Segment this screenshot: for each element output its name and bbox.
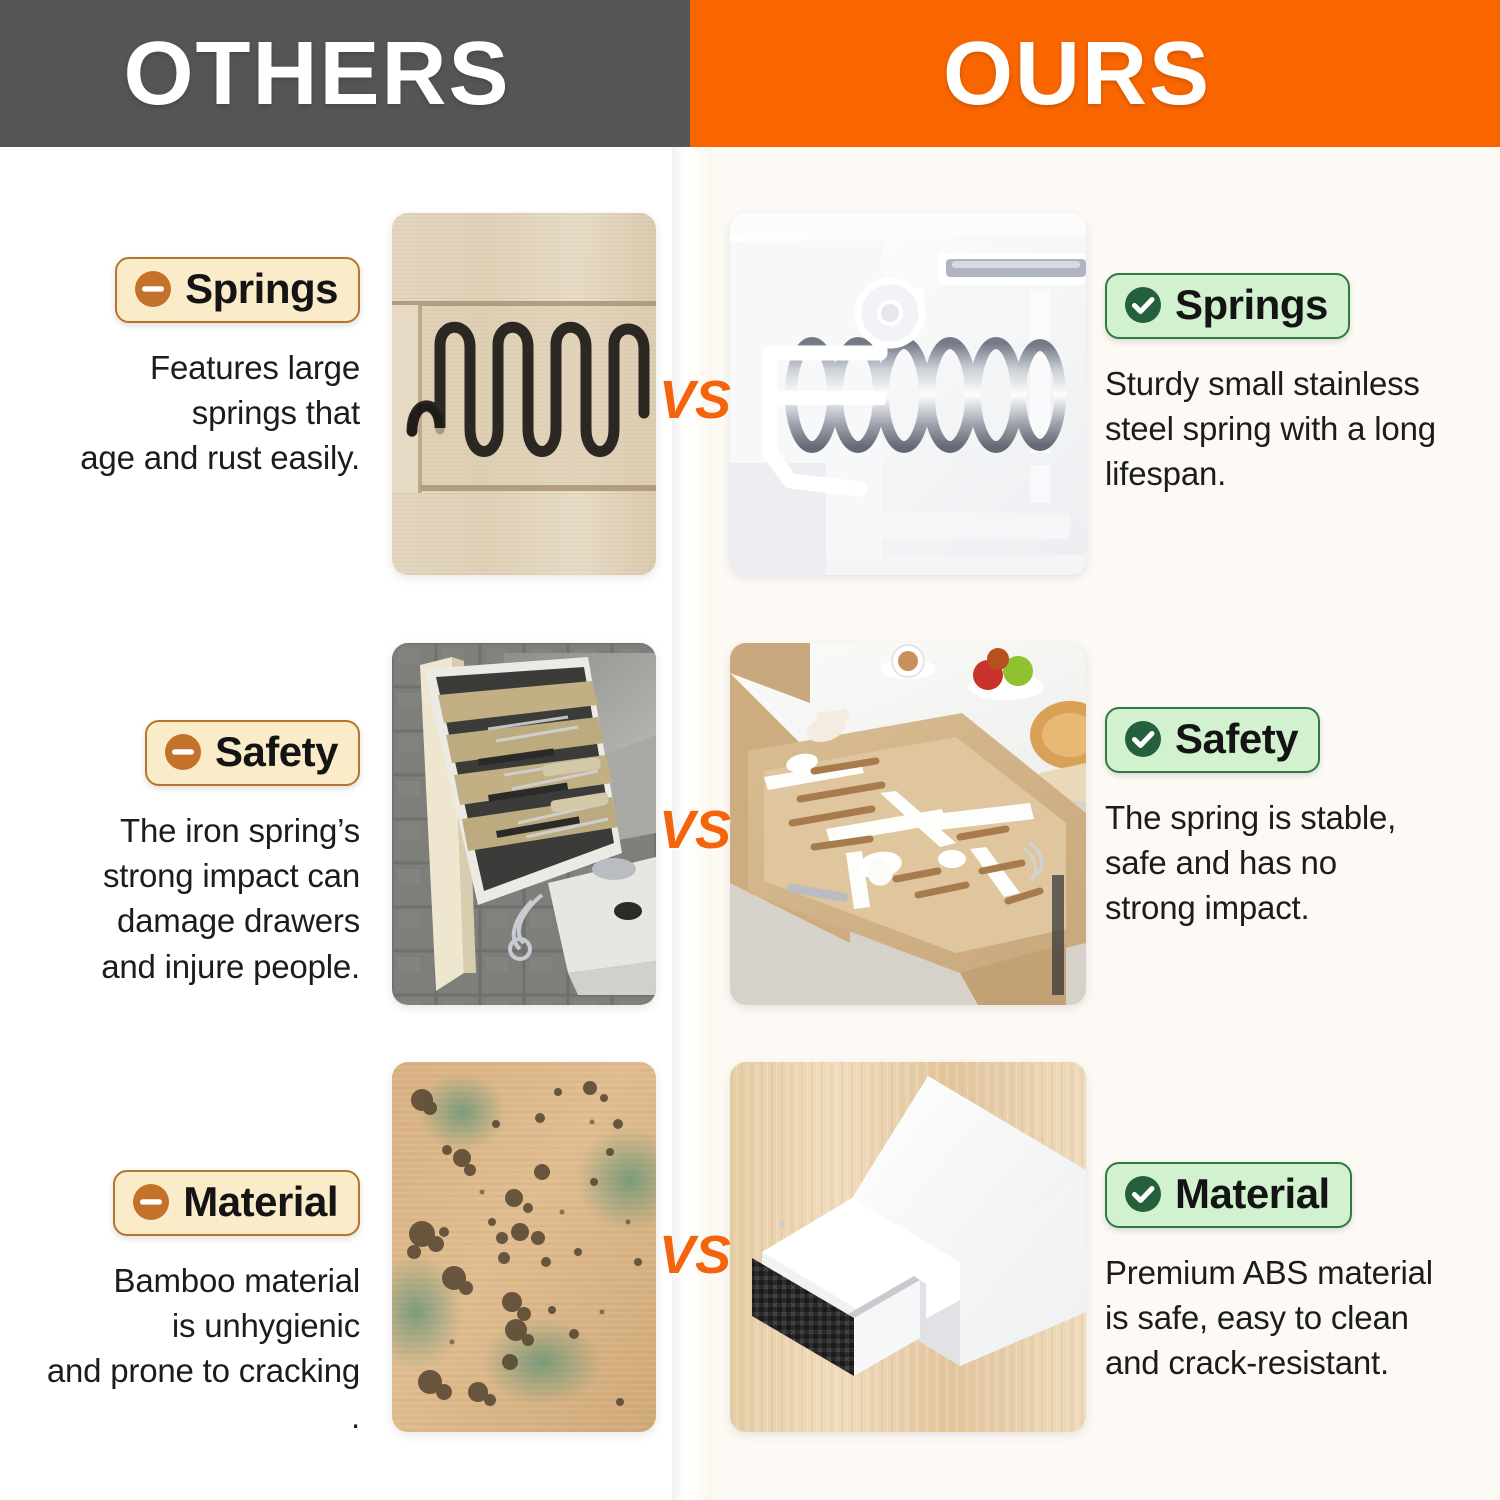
check-circle-icon: [1123, 719, 1163, 759]
springs-ours-text-block: Springs Sturdy small stainless steel spr…: [1105, 273, 1485, 497]
desc-line-trailing-period: .: [20, 1394, 360, 1439]
header-ours-panel: OURS: [690, 0, 1500, 147]
image-white-abs-divider-on-wood-table: [730, 1062, 1086, 1432]
desc-line: Bamboo material: [20, 1258, 360, 1303]
badge-ours-material: Material: [1105, 1162, 1352, 1228]
badge-ours-safety: Safety: [1105, 707, 1320, 773]
desc-line: strong impact can: [20, 853, 360, 898]
safety-ours-text-block: Safety The spring is stable, safe and ha…: [1105, 707, 1485, 931]
desc-line: The spring is stable,: [1105, 795, 1485, 840]
desc-line: safe and has no: [1105, 840, 1485, 885]
desc-line: and prone to cracking: [20, 1348, 360, 1393]
image-moldy-bamboo-board: [392, 1062, 656, 1432]
vs-divider-label-1: VS: [658, 373, 732, 427]
badge-label: Material: [1175, 1173, 1330, 1215]
desc-line: lifespan.: [1105, 451, 1485, 496]
springs-others-text-block: Springs Features large springs that age …: [20, 257, 360, 481]
image-messy-kitchen-drawer-with-cutlery: [392, 643, 656, 1005]
material-others-text-block: Material Bamboo material is unhygienic a…: [20, 1170, 360, 1439]
comparison-row-material: Material Bamboo material is unhygienic a…: [0, 1050, 1500, 1440]
image-organized-wood-drawer-with-white-dividers: [730, 643, 1086, 1005]
desc-line: damage drawers: [20, 898, 360, 943]
safety-ours-description: The spring is stable, safe and has no st…: [1105, 795, 1485, 931]
header-others-panel: OTHERS: [0, 0, 690, 147]
badge-label: Springs: [185, 268, 338, 310]
desc-line: springs that: [20, 390, 360, 435]
desc-line: strong impact.: [1105, 885, 1485, 930]
badge-others-safety: Safety: [145, 720, 360, 786]
desc-line: is unhygienic: [20, 1303, 360, 1348]
badge-others-springs: Springs: [115, 257, 360, 323]
check-circle-icon: [1123, 1174, 1163, 1214]
desc-line: and injure people.: [20, 944, 360, 989]
springs-others-description: Features large springs that age and rust…: [20, 345, 360, 481]
desc-line: age and rust easily.: [20, 435, 360, 480]
badge-label: Material: [183, 1181, 338, 1223]
desc-line: Sturdy small stainless: [1105, 361, 1485, 406]
badge-label: Springs: [1175, 284, 1328, 326]
image-wood-panel-with-black-zigzag-spring: [392, 213, 656, 575]
header-ours-title: OURS: [943, 29, 1211, 119]
comparison-row-springs: Springs Features large springs that age …: [0, 195, 1500, 585]
vs-divider-label-3: VS: [658, 1228, 732, 1282]
material-others-description: Bamboo material is unhygienic and prone …: [20, 1258, 360, 1439]
header: OTHERS OURS: [0, 0, 1500, 147]
minus-circle-icon: [131, 1182, 171, 1222]
badge-others-material: Material: [113, 1170, 360, 1236]
desc-line: is safe, easy to clean: [1105, 1295, 1485, 1340]
desc-line: The iron spring’s: [20, 808, 360, 853]
badge-ours-springs: Springs: [1105, 273, 1350, 339]
material-ours-text-block: Material Premium ABS material is safe, e…: [1105, 1162, 1485, 1386]
vs-divider-label-2: VS: [658, 803, 732, 857]
safety-others-description: The iron spring’s strong impact can dama…: [20, 808, 360, 989]
desc-line: Features large: [20, 345, 360, 390]
desc-line: Premium ABS material: [1105, 1250, 1485, 1295]
image-white-mechanism-with-stainless-coil-spring: [730, 213, 1086, 575]
comparison-row-safety: Safety The iron spring’s strong impact c…: [0, 625, 1500, 1015]
material-ours-description: Premium ABS material is safe, easy to cl…: [1105, 1250, 1485, 1386]
minus-circle-icon: [133, 269, 173, 309]
badge-label: Safety: [1175, 718, 1298, 760]
minus-circle-icon: [163, 732, 203, 772]
springs-ours-description: Sturdy small stainless steel spring with…: [1105, 361, 1485, 497]
safety-others-text-block: Safety The iron spring’s strong impact c…: [20, 720, 360, 989]
check-circle-icon: [1123, 285, 1163, 325]
desc-line: steel spring with a long: [1105, 406, 1485, 451]
desc-line: and crack-resistant.: [1105, 1340, 1485, 1385]
comparison-infographic: OTHERS OURS Springs Features large sprin…: [0, 0, 1500, 1500]
badge-label: Safety: [215, 731, 338, 773]
header-others-title: OTHERS: [123, 29, 510, 119]
